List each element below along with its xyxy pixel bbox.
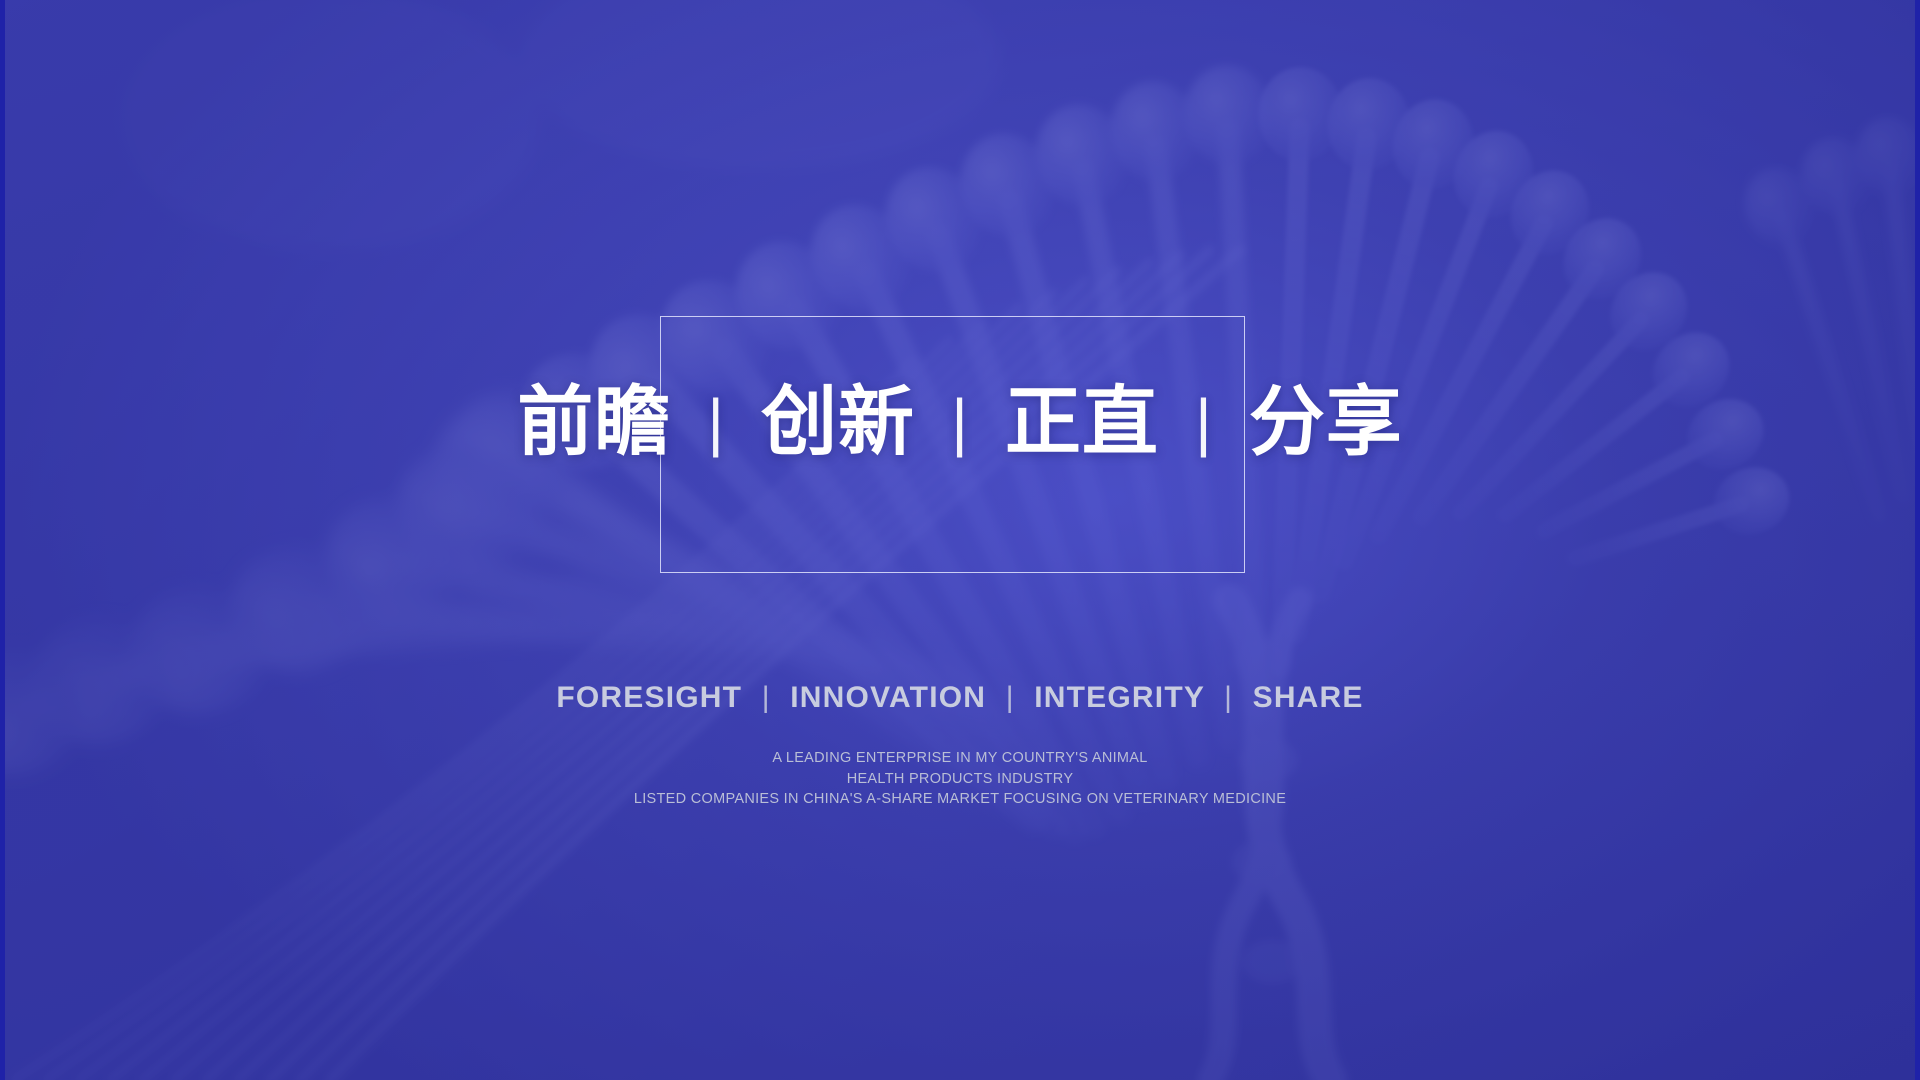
core-values-tagline-english: FORESIGHT | INNOVATION | INTEGRITY | SHA… xyxy=(0,681,1920,715)
value-word-innovation: 创新 xyxy=(761,385,915,461)
core-values-headline: 前瞻 | 创新 | 正直 | 分享 xyxy=(0,385,1920,461)
slide-content: 前瞻 | 创新 | 正直 | 分享 FORESIGHT | INNOVATION… xyxy=(0,0,1920,1080)
descriptor-line-3: LISTED COMPANIES IN CHINA'S A-SHARE MARK… xyxy=(0,789,1920,810)
tagline-separator-2: | xyxy=(1006,681,1015,714)
tagline-word-share: SHARE xyxy=(1253,681,1364,714)
tagline-word-innovation: INNOVATION xyxy=(790,681,986,714)
headline-separator-2: | xyxy=(951,390,969,454)
value-word-foresight: 前瞻 xyxy=(517,385,671,461)
descriptor-line-1: A LEADING ENTERPRISE IN MY COUNTRY'S ANI… xyxy=(0,748,1920,769)
tagline-separator-3: | xyxy=(1224,681,1233,714)
brand-values-slide: 前瞻 | 创新 | 正直 | 分享 FORESIGHT | INNOVATION… xyxy=(0,0,1920,1080)
value-word-share: 分享 xyxy=(1249,385,1403,461)
value-word-integrity: 正直 xyxy=(1005,385,1159,461)
tagline-separator-1: | xyxy=(762,681,771,714)
tagline-word-foresight: FORESIGHT xyxy=(556,681,742,714)
headline-separator-1: | xyxy=(707,390,725,454)
headline-separator-3: | xyxy=(1195,390,1213,454)
descriptor-line-2: HEALTH PRODUCTS INDUSTRY xyxy=(0,769,1920,790)
company-descriptor: A LEADING ENTERPRISE IN MY COUNTRY'S ANI… xyxy=(0,748,1920,810)
tagline-word-integrity: INTEGRITY xyxy=(1034,681,1204,714)
